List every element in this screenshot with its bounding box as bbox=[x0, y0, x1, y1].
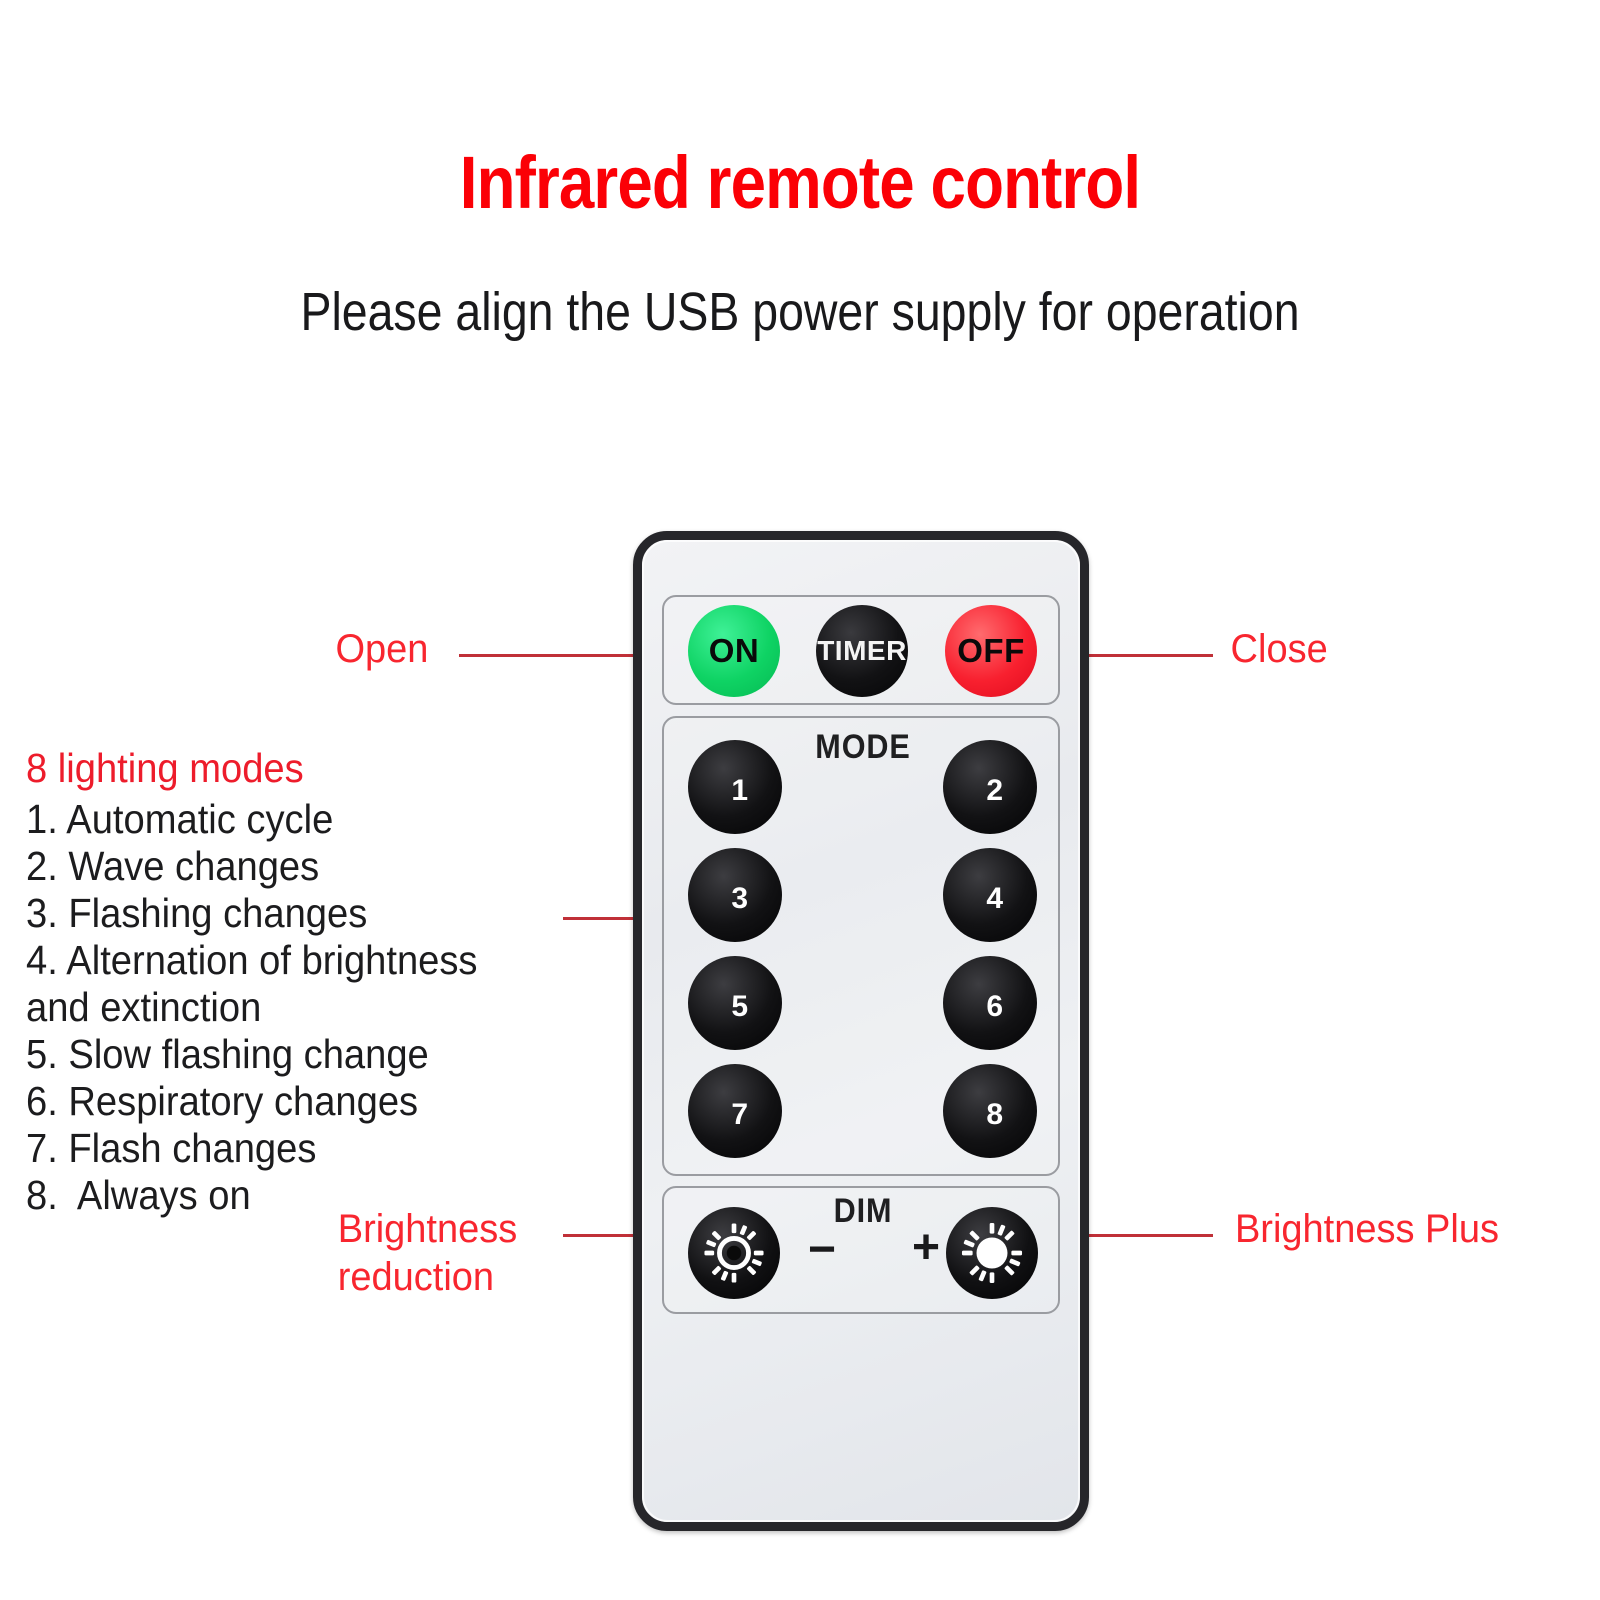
mode-button-7[interactable]: 7 bbox=[688, 1064, 782, 1158]
mode-button-4-label: 4 bbox=[986, 882, 1003, 916]
timer-button[interactable]: TIMER bbox=[816, 605, 908, 697]
dim-panel: DIM bbox=[662, 1186, 1060, 1314]
mode-button-3[interactable]: 3 bbox=[688, 848, 782, 942]
list-item: 4. Alternation of brightness bbox=[26, 937, 584, 984]
mode-button-6[interactable]: 6 bbox=[943, 956, 1037, 1050]
list-item: 3. Flashing changes bbox=[26, 890, 584, 937]
brightness-reduction-button[interactable] bbox=[688, 1207, 780, 1299]
mode-button-7-label: 7 bbox=[731, 1098, 748, 1132]
sun-dim-icon bbox=[703, 1222, 765, 1284]
dim-minus-sign: − bbox=[808, 1226, 836, 1274]
mode-button-4[interactable]: 4 bbox=[943, 848, 1037, 942]
page-title: Infrared remote control bbox=[112, 140, 1488, 225]
leader-line-close bbox=[1089, 654, 1213, 657]
callout-brightness-plus: Brightness Plus bbox=[1235, 1205, 1499, 1253]
leader-line-modes bbox=[563, 917, 635, 920]
lighting-modes-heading: 8 lighting modes bbox=[26, 740, 584, 796]
lighting-modes-list: 8 lighting modes 1. Automatic cycle 2. W… bbox=[26, 740, 584, 1219]
mode-button-6-label: 6 bbox=[986, 990, 1003, 1024]
sun-bright-icon bbox=[961, 1222, 1023, 1284]
mode-button-1-label: 1 bbox=[731, 774, 748, 808]
power-panel: ON TIMER OFF bbox=[662, 595, 1060, 705]
mode-button-2[interactable]: 2 bbox=[943, 740, 1037, 834]
callout-open: Open bbox=[335, 625, 428, 673]
dim-plus-sign: + bbox=[912, 1224, 940, 1272]
on-button[interactable]: ON bbox=[688, 605, 780, 697]
callout-brightness-reduction-line2: reduction bbox=[338, 1255, 494, 1299]
page-subtitle: Please align the USB power supply for op… bbox=[112, 281, 1488, 343]
mode-button-5-label: 5 bbox=[731, 990, 748, 1024]
list-item: 7. Flash changes bbox=[26, 1125, 584, 1172]
mode-button-1[interactable]: 1 bbox=[688, 740, 782, 834]
remote-control-body: ON TIMER OFF MODE 1 2 3 4 bbox=[633, 531, 1089, 1531]
infrared-remote-control-diagram: Infrared remote control Please align the… bbox=[0, 0, 1600, 1600]
list-item: 2. Wave changes bbox=[26, 843, 584, 890]
leader-line-brightness-plus bbox=[1089, 1234, 1213, 1237]
list-item: 6. Respiratory changes bbox=[26, 1078, 584, 1125]
callout-close: Close bbox=[1231, 625, 1328, 673]
leader-line-open bbox=[459, 654, 635, 657]
mode-button-8-label: 8 bbox=[986, 1098, 1003, 1132]
callout-brightness-reduction: Brightnessreduction bbox=[338, 1205, 518, 1301]
mode-button-2-label: 2 bbox=[986, 774, 1003, 808]
on-button-label: ON bbox=[709, 632, 760, 670]
brightness-plus-button[interactable] bbox=[946, 1207, 1038, 1299]
mode-button-5[interactable]: 5 bbox=[688, 956, 782, 1050]
timer-button-label: TIMER bbox=[817, 635, 907, 667]
list-item: and extinction bbox=[26, 984, 584, 1031]
mode-panel: MODE 1 2 3 4 5 6 7 8 bbox=[662, 716, 1060, 1176]
list-item: 1. Automatic cycle bbox=[26, 796, 584, 843]
leader-line-brightness-reduction bbox=[563, 1234, 635, 1237]
off-button-label: OFF bbox=[957, 632, 1024, 670]
list-item: 5. Slow flashing change bbox=[26, 1031, 584, 1078]
callout-brightness-reduction-line1: Brightness bbox=[338, 1207, 518, 1251]
mode-button-3-label: 3 bbox=[731, 882, 748, 916]
off-button[interactable]: OFF bbox=[945, 605, 1037, 697]
mode-button-8[interactable]: 8 bbox=[943, 1064, 1037, 1158]
